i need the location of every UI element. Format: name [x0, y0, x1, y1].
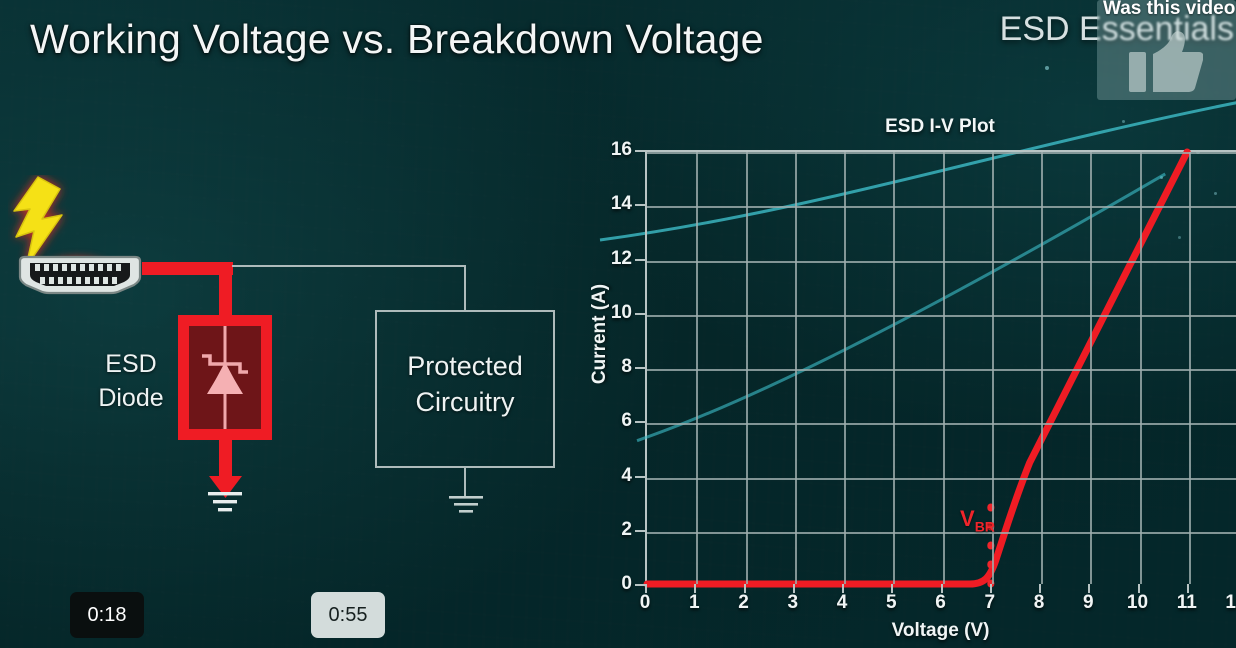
chart-gridline-v — [893, 152, 895, 584]
circuit-diagram: ESD Diode Protected Circuitry — [0, 160, 600, 560]
protected-circuitry-label: Protected Circuitry — [377, 348, 553, 421]
wire-gray-vertical — [464, 265, 466, 311]
chart-gridline-v — [1041, 152, 1043, 584]
chart-gridline-h — [647, 369, 1236, 371]
chart-xtick-label: 7 — [970, 592, 1010, 614]
chart-ytick-label: 10 — [592, 302, 632, 324]
chart-plot-area — [645, 150, 1236, 584]
chart-gridline-v — [696, 152, 698, 584]
chart-curves — [647, 152, 1236, 584]
protected-circuitry-box: Protected Circuitry — [375, 310, 555, 468]
chart-xtick-label: 5 — [871, 592, 911, 614]
chart-xtick-label: 10 — [1118, 592, 1158, 614]
wire-gray-to-ground — [464, 467, 466, 498]
chart-ytick-mark — [635, 367, 645, 369]
chart-xtick-label: 8 — [1019, 592, 1059, 614]
chart-gridline-v — [844, 152, 846, 584]
chart-gridline-v — [1140, 152, 1142, 584]
chart-xtick-label: 9 — [1068, 592, 1108, 614]
chart-ytick-label: 12 — [592, 248, 632, 270]
chart-ytick-mark — [635, 204, 645, 206]
survey-overlay[interactable]: Was this video — [1097, 0, 1236, 100]
chart-xtick-label: 12 — [1216, 592, 1236, 614]
ground-symbol — [200, 492, 250, 518]
chart-ytick-mark — [635, 530, 645, 532]
wire-gray-horizontal — [232, 265, 466, 267]
esd-diode-box — [178, 315, 272, 440]
protected-label-line2: Circuitry — [377, 384, 553, 420]
chart-ytick-mark — [635, 313, 645, 315]
chart-xlabel: Voltage (V) — [645, 620, 1236, 642]
timestamp-total[interactable]: 0:55 — [311, 592, 385, 638]
chart-gridline-v — [746, 152, 748, 584]
chart-xtick-label: 3 — [773, 592, 813, 614]
tvs-zener-diode-symbol — [189, 326, 261, 429]
chart-gridline-h — [647, 423, 1236, 425]
esd-diode-label-line1: ESD — [88, 348, 174, 382]
chart-xtick-label: 11 — [1167, 592, 1207, 614]
page-title: Working Voltage vs. Breakdown Voltage — [30, 16, 764, 63]
chart-gridline-h — [647, 315, 1236, 317]
chart-gridline-v — [1189, 152, 1191, 584]
esd-diode-label-line2: Diode — [88, 382, 174, 416]
chart-xtick-label: 6 — [921, 592, 961, 614]
wire-red-vertical — [219, 262, 232, 322]
chart-gridline-h — [647, 152, 1236, 154]
ground-symbol — [441, 496, 491, 522]
chart-xtick-label: 0 — [625, 592, 665, 614]
chart-ytick-mark — [635, 584, 645, 586]
chart-ytick-label: 14 — [592, 193, 632, 215]
protected-label-line1: Protected — [377, 348, 553, 384]
esd-diode-label: ESD Diode — [88, 348, 174, 416]
survey-question-text: Was this video — [1103, 0, 1235, 20]
chart-gridline-h — [647, 261, 1236, 263]
chart-title: ESD I-V Plot — [830, 116, 1050, 138]
chart-ytick-label: 4 — [592, 465, 632, 487]
vbr-annotation: VBR — [960, 506, 995, 534]
vbr-label: V — [960, 506, 975, 531]
vbr-subscript: BR — [975, 518, 995, 534]
chart-gridline-h — [647, 478, 1236, 480]
chart-gridline-v — [943, 152, 945, 584]
chart-ytick-label: 0 — [592, 573, 632, 595]
chart-ytick-label: 16 — [592, 139, 632, 161]
chart-gridline-h — [647, 532, 1236, 534]
chart-gridline-h — [647, 206, 1236, 208]
chart-ytick-mark — [635, 421, 645, 423]
chart-ytick-mark — [635, 150, 645, 152]
chart-ytick-mark — [635, 259, 645, 261]
chart-xtick-label: 2 — [724, 592, 764, 614]
timestamp-current[interactable]: 0:18 — [70, 592, 144, 638]
chart-ytick-label: 2 — [592, 519, 632, 541]
chart-xtick-label: 1 — [674, 592, 714, 614]
background-speck — [1045, 66, 1049, 70]
iv-curve-path — [647, 152, 1187, 584]
chart-ytick-label: 8 — [592, 356, 632, 378]
chart-gridline-v — [795, 152, 797, 584]
chart-ytick-label: 6 — [592, 410, 632, 432]
chart-xtick-label: 4 — [822, 592, 862, 614]
hdmi-connector-icon — [16, 255, 144, 295]
chart-ytick-mark — [635, 476, 645, 478]
chart-gridline-v — [1090, 152, 1092, 584]
thumb-up-icon[interactable] — [1129, 30, 1203, 92]
esd-iv-chart: ESD I-V Plot Current (A) Voltage (V) VBR… — [580, 108, 1236, 648]
